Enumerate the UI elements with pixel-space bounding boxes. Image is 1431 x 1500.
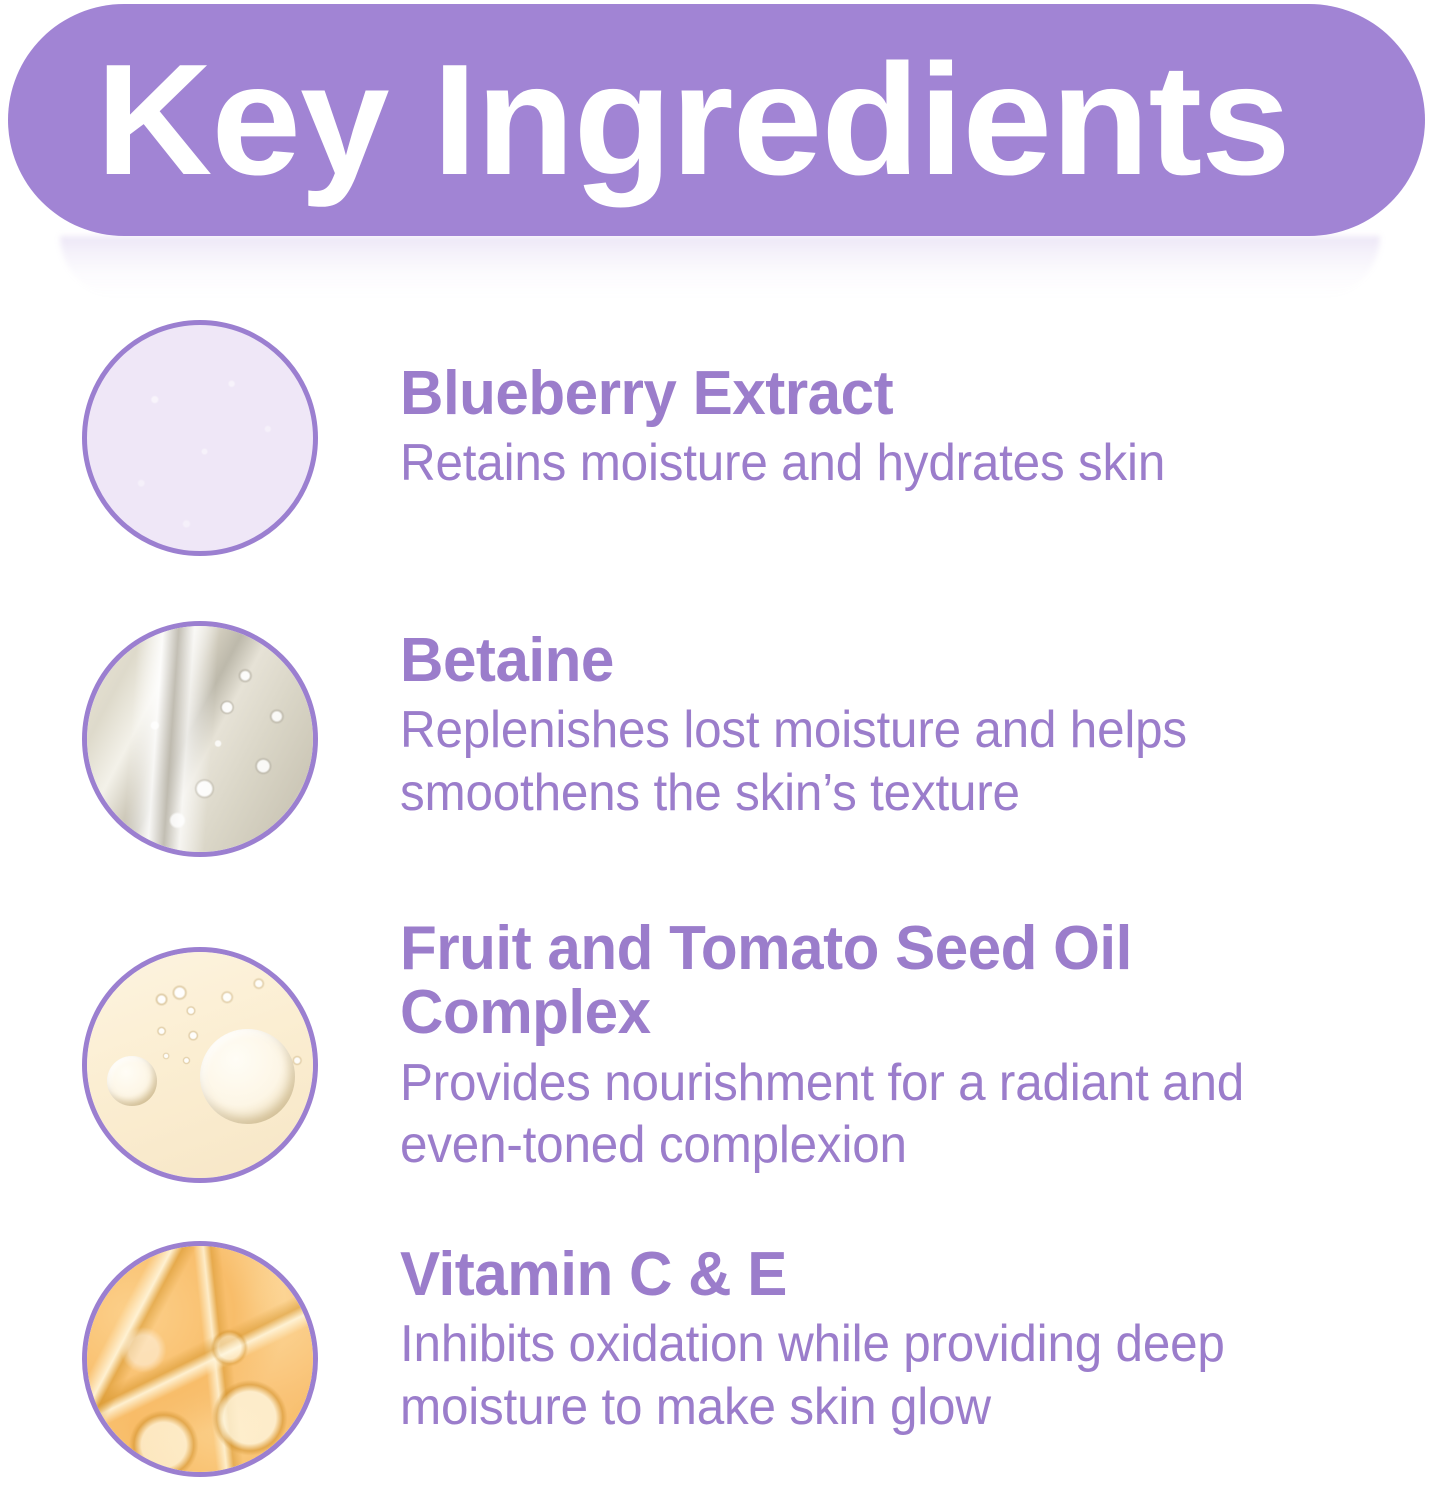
header-banner: Key Ingredients xyxy=(8,4,1425,236)
oil-droplets-icon xyxy=(87,952,313,1178)
thumbnail-cell xyxy=(0,1233,400,1477)
blueberries-icon xyxy=(87,325,313,551)
ingredient-item-vitamin-c-and-e: Vitamin C & E Inhibits oxidation while p… xyxy=(0,1233,1431,1477)
thumbnail-cell xyxy=(0,917,400,1183)
ingredient-text: Vitamin C & E Inhibits oxidation while p… xyxy=(400,1233,1431,1438)
gel-texture-photo-circle xyxy=(82,621,318,857)
thumbnail-cell xyxy=(0,306,400,556)
ingredient-description: Retains moisture and hydrates skin xyxy=(400,432,1265,494)
key-ingredients-infographic: Key Ingredients Blueberry Extract Retain… xyxy=(0,0,1431,1500)
oil-droplets-photo-circle xyxy=(82,947,318,1183)
banner-reflection xyxy=(60,236,1380,298)
thumbnail-cell xyxy=(0,611,400,857)
blueberries-photo-circle xyxy=(82,320,318,556)
header-banner-wrapper: Key Ingredients xyxy=(8,4,1425,236)
ingredient-list: Blueberry Extract Retains moisture and h… xyxy=(0,306,1431,1477)
ingredient-text: Fruit and Tomato Seed Oil Complex Provid… xyxy=(400,917,1431,1177)
ingredient-item-blueberry-extract: Blueberry Extract Retains moisture and h… xyxy=(0,306,1431,556)
golden-serum-photo-circle xyxy=(82,1241,318,1477)
gel-texture-icon xyxy=(87,626,313,852)
ingredient-name: Betaine xyxy=(400,629,1284,693)
ingredient-name: Fruit and Tomato Seed Oil Complex xyxy=(400,917,1284,1046)
ingredient-description: Provides nourishment for a radiant and e… xyxy=(400,1052,1265,1177)
ingredient-text: Betaine Replenishes lost moisture and he… xyxy=(400,611,1431,824)
ingredient-description: Inhibits oxidation while providing deep … xyxy=(400,1313,1265,1438)
ingredient-text: Blueberry Extract Retains moisture and h… xyxy=(400,306,1431,495)
golden-serum-icon xyxy=(87,1246,313,1472)
ingredient-item-betaine: Betaine Replenishes lost moisture and he… xyxy=(0,611,1431,857)
ingredient-name: Vitamin C & E xyxy=(400,1243,1284,1307)
bubbles-overlay xyxy=(87,952,313,1178)
page-title: Key Ingredients xyxy=(96,41,1290,199)
ingredient-item-fruit-tomato-seed-oil-complex: Fruit and Tomato Seed Oil Complex Provid… xyxy=(0,917,1431,1183)
ingredient-name: Blueberry Extract xyxy=(400,362,1284,426)
ingredient-description: Replenishes lost moisture and helps smoo… xyxy=(400,699,1265,824)
